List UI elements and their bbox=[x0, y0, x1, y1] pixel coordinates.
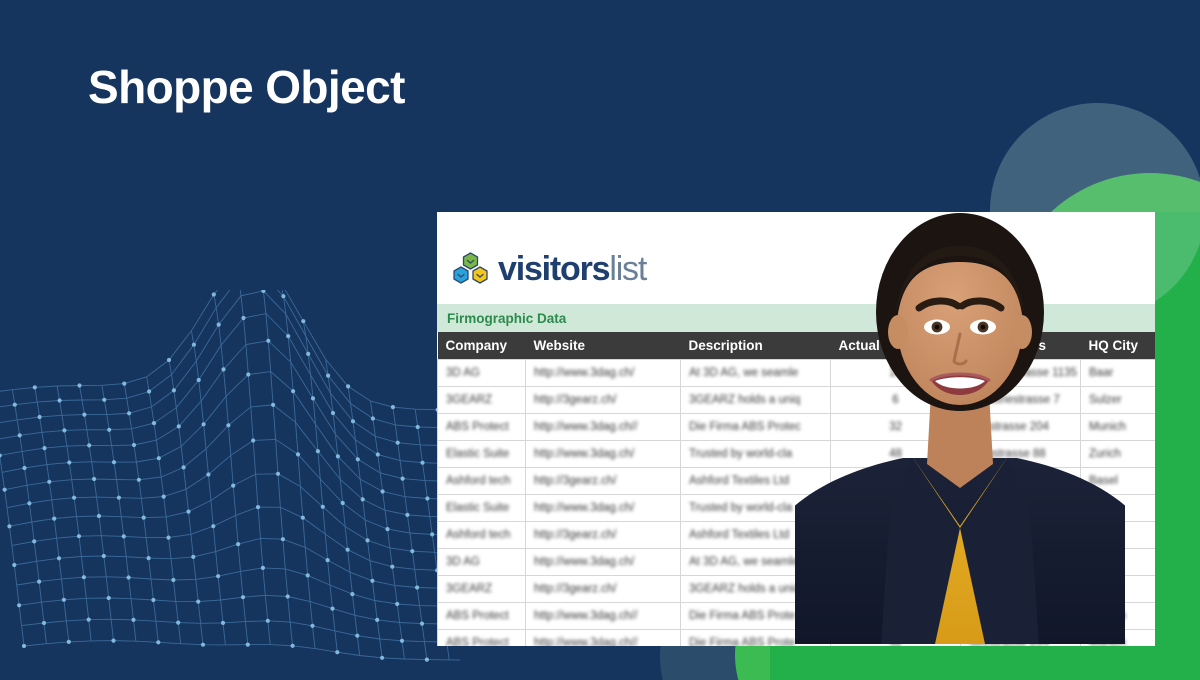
cell-company: 3GEARZ bbox=[438, 387, 526, 414]
cell-website: http://www.3dag.ch/ bbox=[526, 441, 681, 468]
brand-wordmark: visitorslist bbox=[498, 252, 646, 286]
wireframe-mesh-decoration bbox=[0, 290, 460, 680]
green-side-panel bbox=[1154, 212, 1200, 680]
cell-website: http://www.3dag.ch/ bbox=[526, 549, 681, 576]
cell-website: http://www.3dag.ch// bbox=[526, 603, 681, 630]
cell-website: http://3gearz.ch/ bbox=[526, 522, 681, 549]
page-title: Shoppe Object bbox=[88, 60, 405, 114]
cell-website: http://www.3dag.ch/ bbox=[526, 360, 681, 387]
cell-company: ABS Protect bbox=[438, 414, 526, 441]
cell-company: ABS Protect bbox=[438, 630, 526, 647]
cell-website: http://www.3dag.ch// bbox=[526, 630, 681, 647]
green-bottom-band bbox=[770, 644, 1200, 680]
brand-word-secondary: list bbox=[609, 250, 646, 288]
brand-word-primary: visitors bbox=[498, 250, 609, 288]
hexagon-cluster-icon bbox=[451, 252, 491, 286]
promo-banner: Shoppe Object visitorslist Firmographic … bbox=[0, 0, 1200, 680]
cell-company: Elastic Suite bbox=[438, 441, 526, 468]
column-header-website[interactable]: Website bbox=[526, 332, 681, 360]
cell-company: 3GEARZ bbox=[438, 576, 526, 603]
cell-website: http://www.3dag.ch/ bbox=[526, 495, 681, 522]
cell-website: http://3gearz.ch/ bbox=[526, 468, 681, 495]
cell-company: Ashford tech bbox=[438, 468, 526, 495]
portrait-photo bbox=[795, 196, 1125, 644]
column-header-company[interactable]: Company bbox=[438, 332, 526, 360]
cell-company: Elastic Suite bbox=[438, 495, 526, 522]
cell-company: 3D AG bbox=[438, 360, 526, 387]
cell-company: ABS Protect bbox=[438, 603, 526, 630]
cell-website: http://www.3dag.ch// bbox=[526, 414, 681, 441]
cell-company: 3D AG bbox=[438, 549, 526, 576]
cell-website: http://3gearz.ch/ bbox=[526, 576, 681, 603]
cell-website: http://3gearz.ch/ bbox=[526, 387, 681, 414]
cell-company: Ashford tech bbox=[438, 522, 526, 549]
